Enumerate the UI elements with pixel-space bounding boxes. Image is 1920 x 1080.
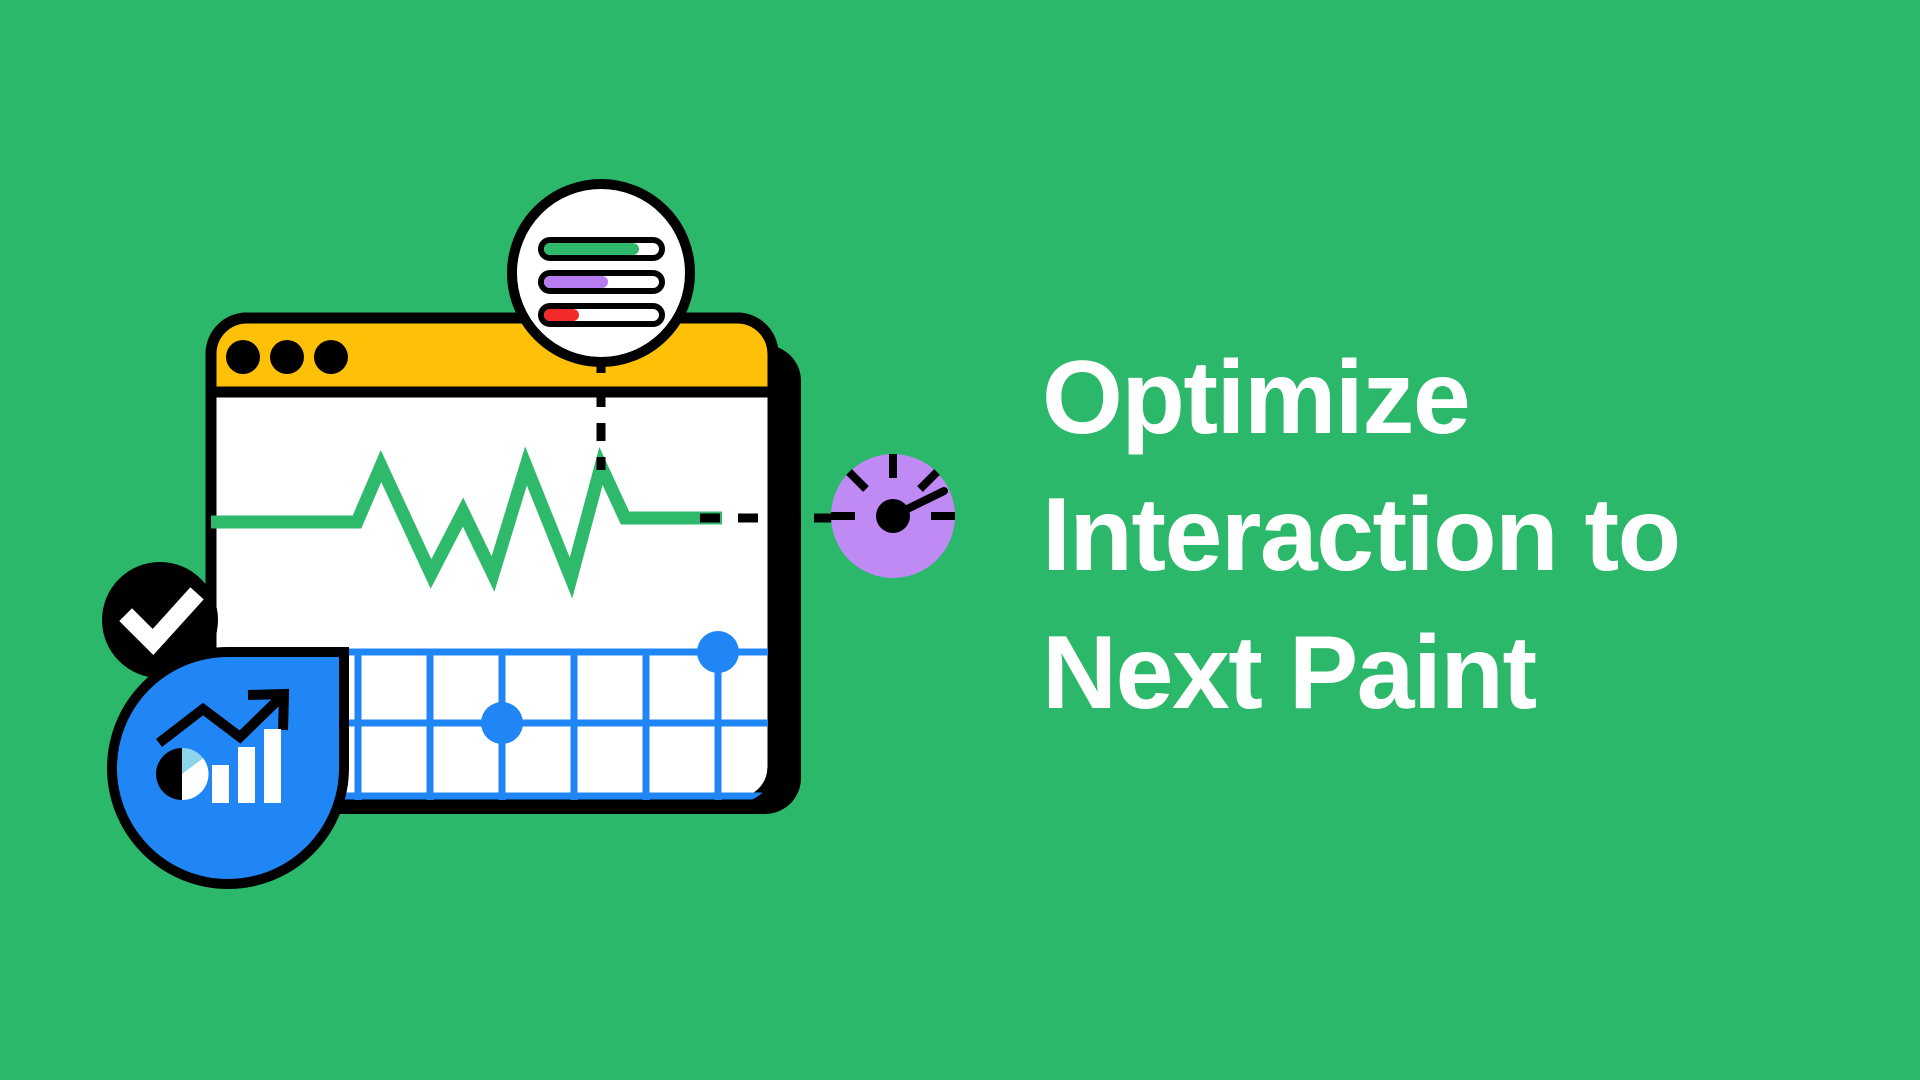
- analytics-bar-2: [238, 747, 255, 803]
- grid-point-1[interactable]: [481, 702, 523, 744]
- metrics-bubble[interactable]: [512, 184, 690, 362]
- page-title: Optimize Interaction to Next Paint: [1042, 330, 1882, 742]
- pie-chart-icon: [156, 748, 209, 800]
- metric-bar-green-fill: [544, 243, 639, 255]
- analytics-badge[interactable]: [112, 652, 344, 884]
- window-dot-1[interactable]: [226, 340, 260, 374]
- speed-gauge[interactable]: [831, 454, 955, 578]
- gauge-hub: [876, 499, 910, 533]
- metric-bar-red-fill: [544, 309, 579, 321]
- grid-point-2[interactable]: [697, 631, 739, 673]
- analytics-bar-3: [264, 729, 281, 803]
- illustration-banner: Optimize Interaction to Next Paint: [0, 0, 1920, 1080]
- window-dot-3[interactable]: [314, 340, 348, 374]
- metric-bar-purple-fill: [544, 276, 608, 288]
- analytics-bar-1: [212, 765, 229, 803]
- window-dot-2[interactable]: [270, 340, 304, 374]
